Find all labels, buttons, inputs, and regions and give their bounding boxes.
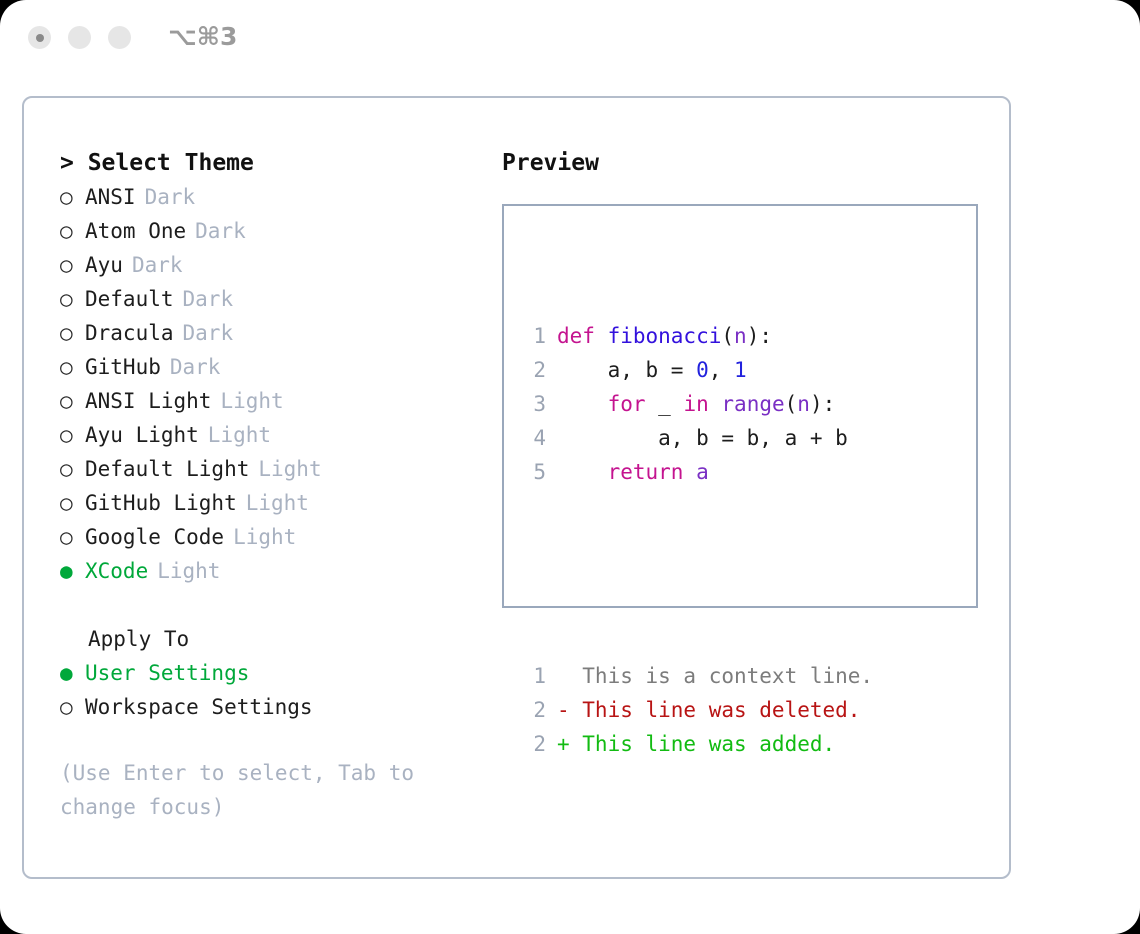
window-dot-icon-2[interactable] [68,26,91,49]
theme-option-kind: Light [258,452,321,486]
theme-option-ayu-light[interactable]: ○Ayu LightLight [60,418,490,452]
code-token-pln: ): [810,392,835,416]
code-token-pln: ( [721,324,734,348]
code-token-pln: ( [785,392,798,416]
code-token-pln: a, b = b, a + b [557,426,848,450]
theme-option-kind: Light [157,554,220,588]
apply-to-label: Apply To [60,622,490,656]
theme-option-label: XCode [85,554,148,588]
diff-line-text: This is a context line. [557,659,873,693]
radio-unselected-icon[interactable]: ○ [60,384,85,418]
code-token-num: 0 [696,358,709,382]
line-number: 5 [516,455,557,489]
theme-option-ansi-light[interactable]: ○ANSI LightLight [60,384,490,418]
window-controls [28,26,131,49]
code-token-pln: , [709,358,734,382]
radio-unselected-icon[interactable]: ○ [60,520,85,554]
preview-title: Preview [502,146,982,180]
code-line-text: a, b = 0, 1 [557,353,747,387]
theme-option-label: Google Code [85,520,224,554]
code-token-pln: _ [646,392,684,416]
line-number: 1 [516,659,557,693]
theme-option-label: Default [85,282,174,316]
code-line: 3 for _ in range(n): [516,387,873,421]
code-token-kw: for [608,392,646,416]
theme-option-default-light[interactable]: ○Default LightLight [60,452,490,486]
window-dot-active-icon[interactable] [28,26,51,49]
theme-option-label: GitHub Light [85,486,237,520]
theme-option-kind: Dark [170,350,221,384]
code-diff-separator [516,557,873,591]
diff-line-del: 2- This line was deleted. [516,693,873,727]
diff-line-text: - This line was deleted. [557,693,860,727]
code-line: 4 a, b = b, a + b [516,421,873,455]
radio-selected-icon[interactable]: ● [60,656,85,690]
theme-option-kind: Light [220,384,283,418]
code-token-call: range [721,392,784,416]
theme-option-github[interactable]: ○GitHubDark [60,350,490,384]
code-token-num: 1 [734,358,747,382]
code-token-pln [709,392,722,416]
code-token-pln: ): [747,324,772,348]
theme-option-label: ANSI Light [85,384,211,418]
line-number: 2 [516,727,557,761]
code-token-kw: def [557,324,608,348]
code-line-text: def fibonacci(n): [557,319,772,353]
theme-option-label: Ayu [85,248,123,282]
diff-sample: 1 This is a context line.2- This line wa… [516,659,873,761]
theme-option-kind: Light [233,520,296,554]
theme-option-kind: Dark [183,282,234,316]
line-number: 4 [516,421,557,455]
code-token-pln: a, b = [557,358,696,382]
code-line-text: for _ in range(n): [557,387,835,421]
theme-option-kind: Dark [145,180,196,214]
theme-option-label: Ayu Light [85,418,199,452]
radio-unselected-icon[interactable]: ○ [60,282,85,316]
code-line-text: return a [557,455,709,489]
code-token-pln [557,460,608,484]
theme-option-ansi[interactable]: ○ANSIDark [60,180,490,214]
theme-option-github-light[interactable]: ○GitHub LightLight [60,486,490,520]
diff-line-ctx: 1 This is a context line. [516,659,873,693]
preview-column: Preview 1def fibonacci(n):2 a, b = 0, 13… [502,146,982,608]
preview-code: 1def fibonacci(n):2 a, b = 0, 13 for _ i… [516,251,873,829]
apply-to-option-user-settings[interactable]: ●User Settings [60,656,490,690]
theme-option-label: GitHub [85,350,161,384]
radio-unselected-icon[interactable]: ○ [60,350,85,384]
apply-to-option-workspace-settings[interactable]: ○Workspace Settings [60,690,490,724]
radio-unselected-icon[interactable]: ○ [60,316,85,350]
radio-unselected-icon[interactable]: ○ [60,180,85,214]
theme-list: ○ANSIDark○Atom OneDark○AyuDark○DefaultDa… [60,180,490,588]
diff-line-text: + This line was added. [557,727,835,761]
radio-unselected-icon[interactable]: ○ [60,690,85,724]
theme-option-dracula[interactable]: ○DraculaDark [60,316,490,350]
radio-unselected-icon[interactable]: ○ [60,214,85,248]
theme-option-label: Default Light [85,452,249,486]
code-line: 2 a, b = 0, 1 [516,353,873,387]
radio-selected-icon[interactable]: ● [60,554,85,588]
code-token-kw: in [683,392,708,416]
line-number: 2 [516,353,557,387]
radio-unselected-icon[interactable]: ○ [60,452,85,486]
code-token-var: n [797,392,810,416]
code-line-text: a, b = b, a + b [557,421,848,455]
code-token-fn: fibonacci [608,324,722,348]
code-line: 5 return a [516,455,873,489]
code-line: 1def fibonacci(n): [516,319,873,353]
keyboard-shortcut-label: ⌥⌘3 [168,22,237,51]
apply-to-list: ●User Settings○Workspace Settings [60,656,490,724]
theme-option-label: ANSI [85,180,136,214]
theme-option-atom-one[interactable]: ○Atom OneDark [60,214,490,248]
theme-option-kind: Dark [195,214,246,248]
code-token-pln [557,392,608,416]
theme-option-google-code[interactable]: ○Google CodeLight [60,520,490,554]
line-number: 1 [516,319,557,353]
line-number: 2 [516,693,557,727]
apply-to-option-label: User Settings [85,656,249,690]
theme-option-xcode[interactable]: ●XCodeLight [60,554,490,588]
line-number: 3 [516,387,557,421]
code-token-var: n [734,324,747,348]
title-bar: ⌥⌘3 [0,0,1140,76]
radio-unselected-icon[interactable]: ○ [60,248,85,282]
diff-line-add: 2+ This line was added. [516,727,873,761]
main-panel: > Select Theme ○ANSIDark○Atom OneDark○Ay… [22,96,1011,879]
window-dot-icon-3[interactable] [108,26,131,49]
theme-option-label: Dracula [85,316,174,350]
code-sample: 1def fibonacci(n):2 a, b = 0, 13 for _ i… [516,319,873,489]
code-token-kw: return [608,460,684,484]
theme-picker-column: > Select Theme ○ANSIDark○Atom OneDark○Ay… [60,146,490,824]
apply-to-option-label: Workspace Settings [85,690,313,724]
theme-option-kind: Dark [183,316,234,350]
preview-box: 1def fibonacci(n):2 a, b = 0, 13 for _ i… [502,204,978,608]
theme-option-ayu[interactable]: ○AyuDark [60,248,490,282]
code-token-var: a [696,460,709,484]
radio-unselected-icon[interactable]: ○ [60,418,85,452]
theme-option-default[interactable]: ○DefaultDark [60,282,490,316]
page-title: > Select Theme [60,146,490,180]
theme-option-kind: Light [246,486,309,520]
code-token-pln [683,460,696,484]
keyboard-hint: (Use Enter to select, Tab to change focu… [60,756,465,824]
theme-option-kind: Light [208,418,271,452]
app-window: ⌥⌘3 > Select Theme ○ANSIDark○Atom OneDar… [0,0,1140,934]
theme-option-kind: Dark [132,248,183,282]
theme-option-label: Atom One [85,214,186,248]
radio-unselected-icon[interactable]: ○ [60,486,85,520]
